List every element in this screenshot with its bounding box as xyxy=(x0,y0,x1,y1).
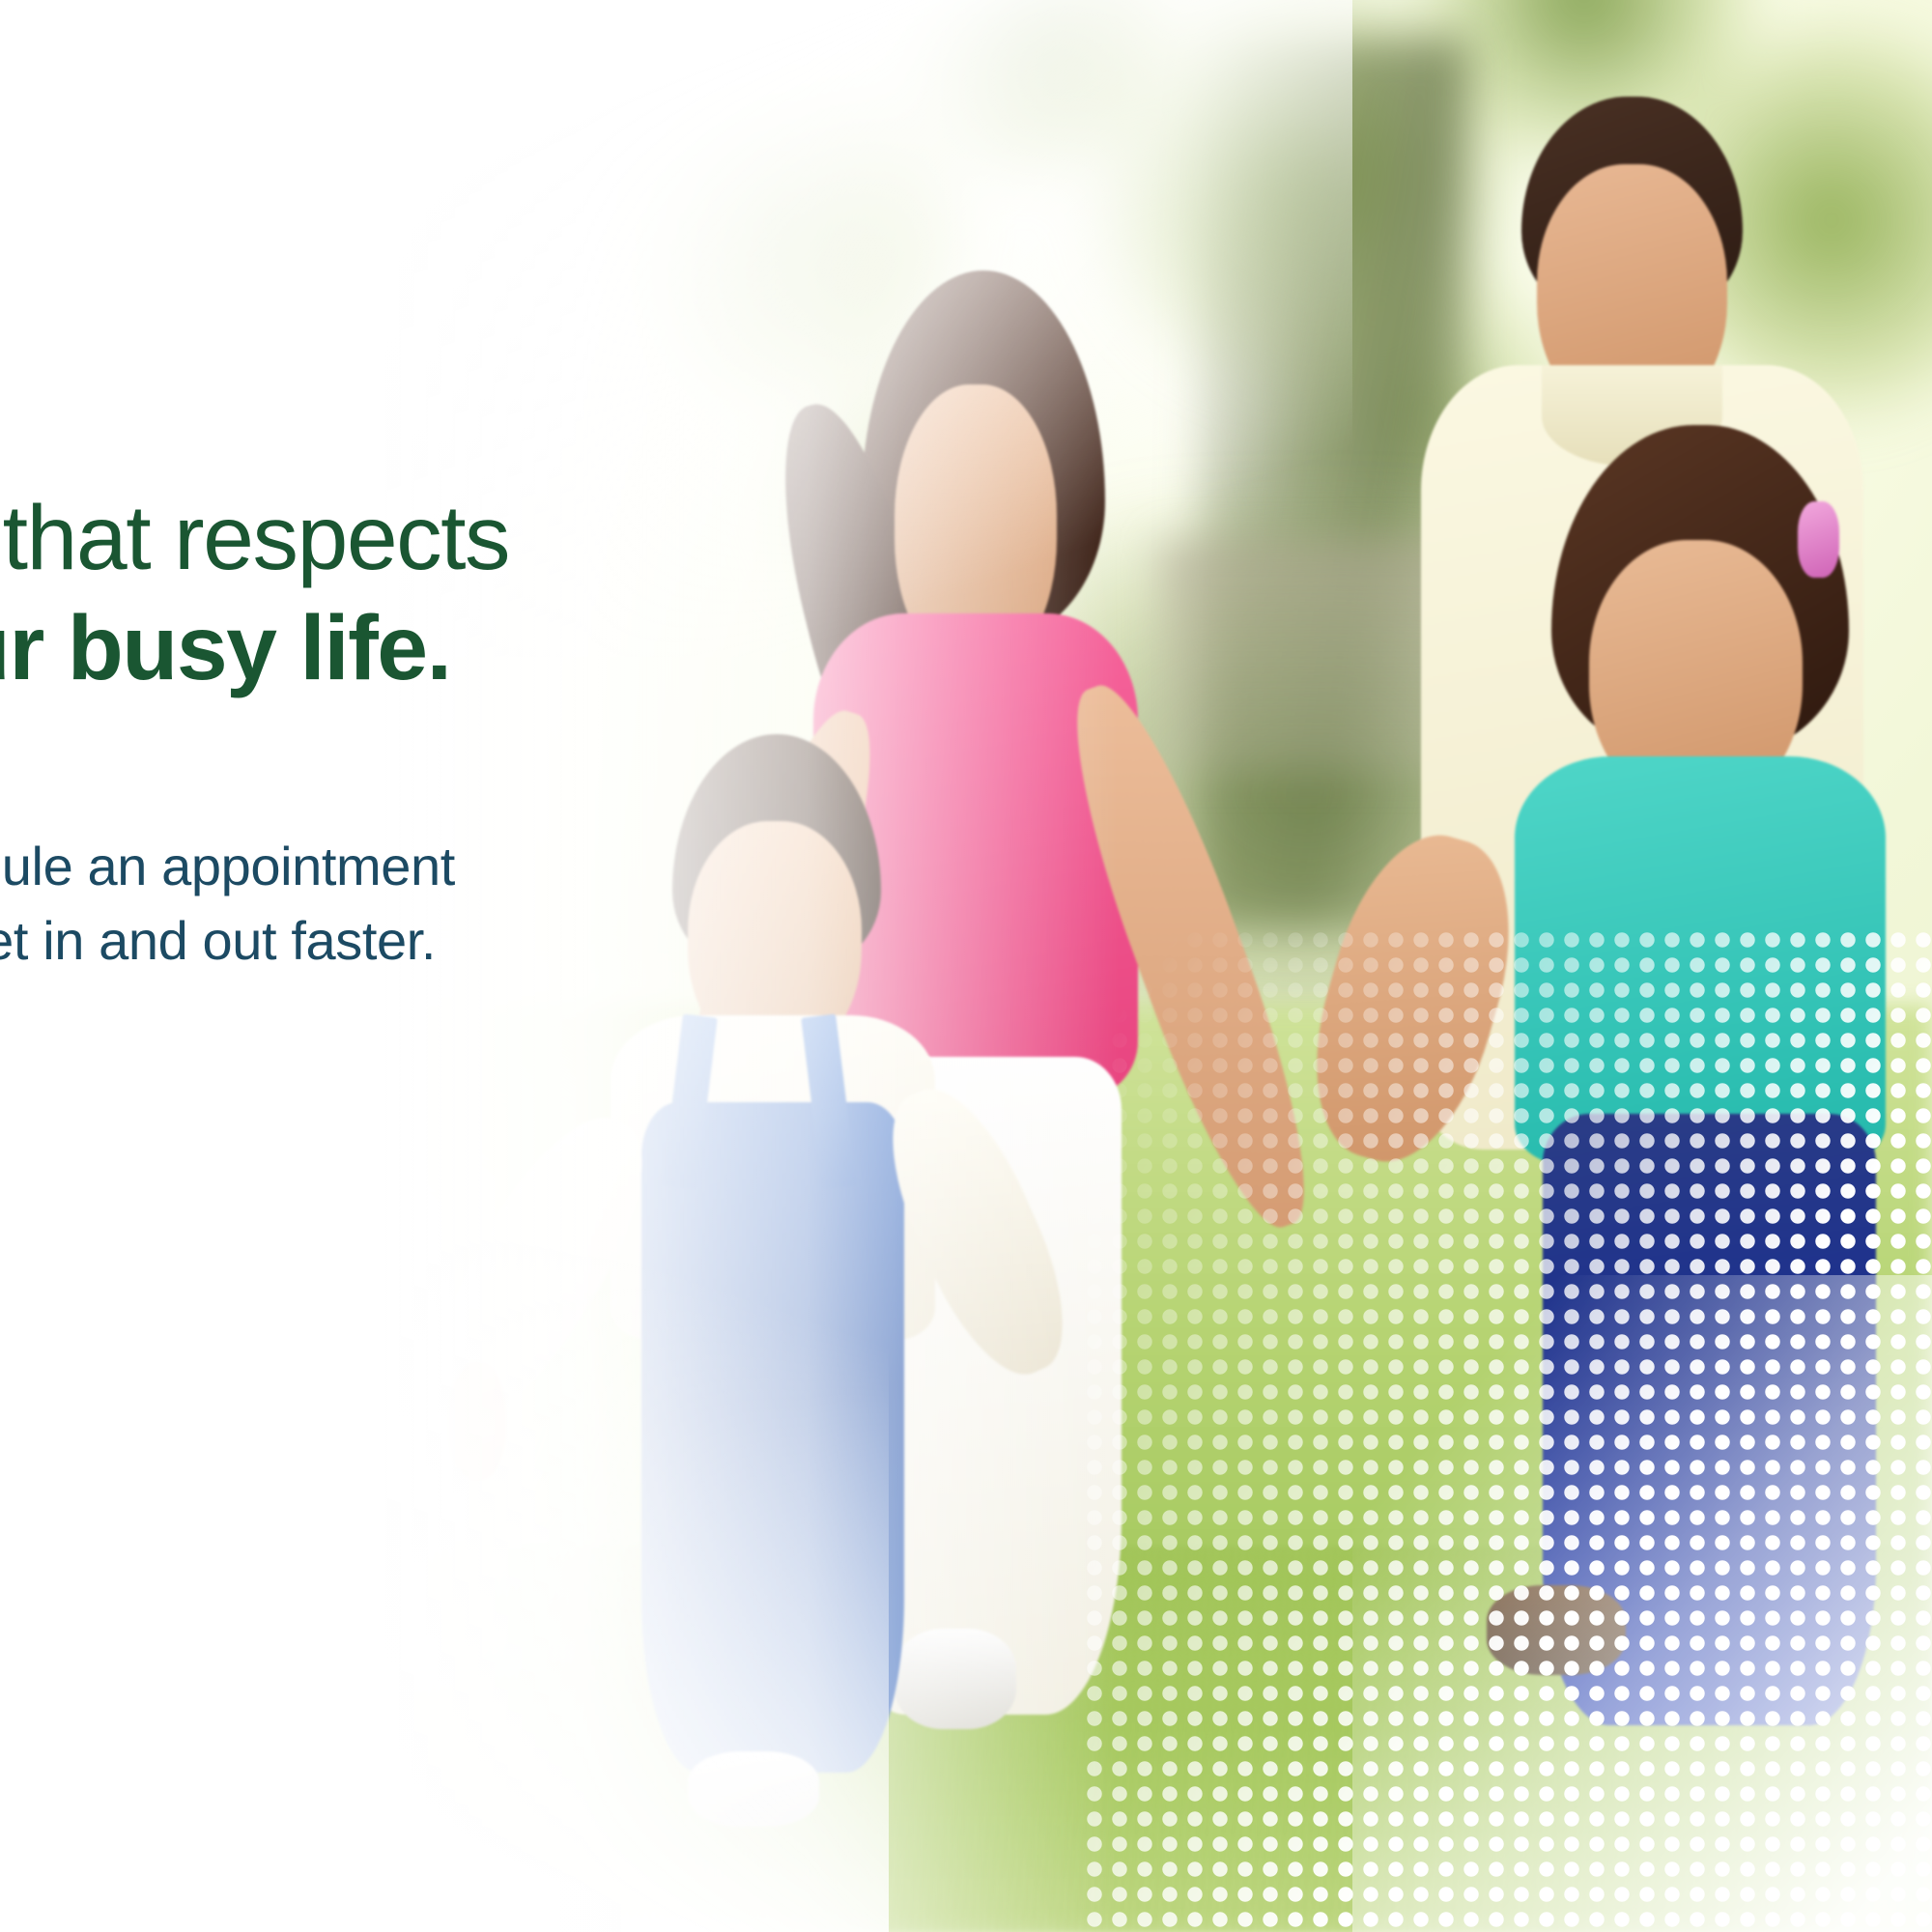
hero-headline: lab that respects your busy life. xyxy=(0,483,720,703)
boy-left-hand xyxy=(448,1362,506,1481)
headline-line-1: lab that respects xyxy=(0,483,720,593)
girl-hair-clip xyxy=(1798,501,1839,578)
hero-banner: lab that respects your busy life. Schedu… xyxy=(0,0,1932,1932)
girl-teal-shirt xyxy=(1515,756,1886,1164)
subcopy-line-2: and get in and out faster. xyxy=(0,903,720,978)
hero-subcopy: Schedule an appointment and get in and o… xyxy=(0,829,720,979)
headline-line-2: your busy life. xyxy=(0,593,720,703)
girl-shoe xyxy=(1487,1585,1626,1674)
subcopy-line-1: Schedule an appointment xyxy=(0,829,720,903)
headline-rest: that respects xyxy=(0,487,509,589)
boy-denim-overalls xyxy=(641,1102,904,1773)
boy-shoe xyxy=(688,1751,819,1827)
hero-copy-block: lab that respects your busy life. Schedu… xyxy=(0,483,720,979)
person-girl xyxy=(1468,425,1932,1700)
